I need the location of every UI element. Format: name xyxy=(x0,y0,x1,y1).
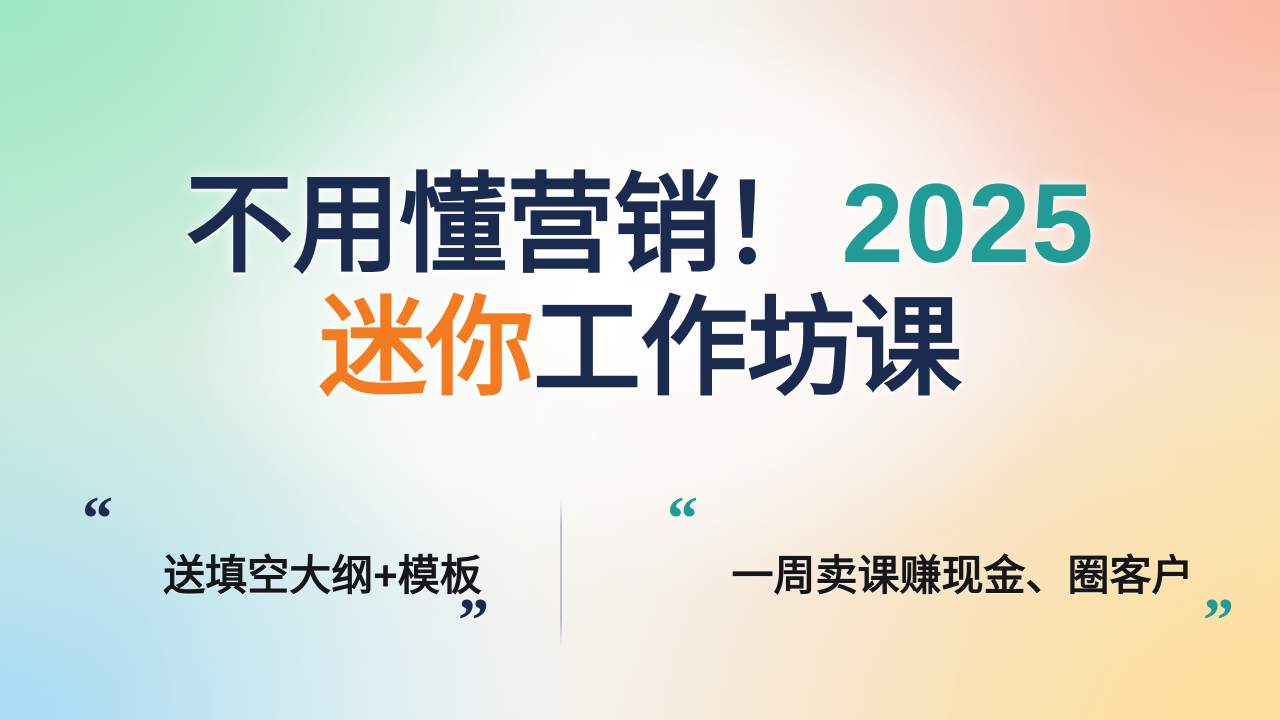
close-quote-icon: ” xyxy=(1203,590,1234,652)
headline-line-1-year: 2025 xyxy=(827,161,1094,286)
headline-line-2-primary: 工作坊课 xyxy=(533,287,961,408)
tagline-row: “ 送填空大纲+模板 ” “ 一周卖课赚现金、圈客户 ” xyxy=(0,486,1280,666)
promo-poster: 不用懂营销！2025 迷你工作坊课 “ 送填空大纲+模板 ” “ 一周卖课赚现金… xyxy=(0,0,1280,720)
tagline-item-left: “ 送填空大纲+模板 ” xyxy=(0,486,645,666)
tagline-item-right: “ 一周卖课赚现金、圈客户 ” xyxy=(645,486,1280,666)
tagline-right-text: 一周卖课赚现金、圈客户 xyxy=(645,542,1280,603)
headline-line-2-accent: 迷你 xyxy=(319,287,533,408)
headline: 不用懂营销！2025 迷你工作坊课 xyxy=(0,168,1280,402)
headline-line-1-primary: 不用懂营销！ xyxy=(185,164,827,285)
tagline-divider xyxy=(560,500,562,646)
open-quote-icon: “ xyxy=(667,488,698,550)
tagline-left-text: 送填空大纲+模板 xyxy=(0,542,645,603)
headline-line-2: 迷你工作坊课 xyxy=(0,294,1280,402)
open-quote-icon: “ xyxy=(82,488,113,550)
headline-line-1: 不用懂营销！2025 xyxy=(0,168,1280,280)
close-quote-icon: ” xyxy=(458,590,489,652)
